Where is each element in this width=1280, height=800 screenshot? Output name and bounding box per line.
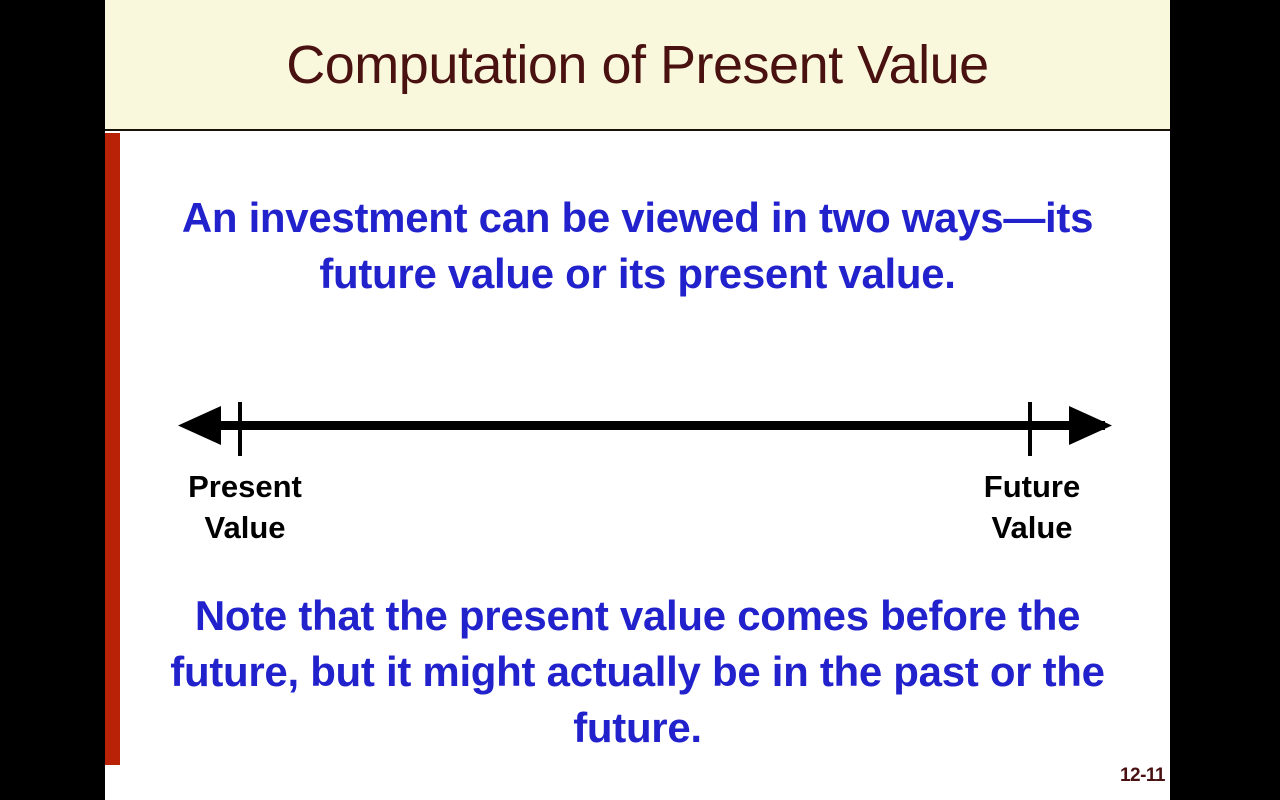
timeline-label-future-value: Future Value (932, 466, 1132, 548)
timeline-diagram: Present Value Future Value (105, 390, 1170, 550)
intro-paragraph: An investment can be viewed in two ways—… (165, 190, 1110, 302)
timeline-label-present-value: Present Value (145, 466, 345, 548)
page-title: Computation of Present Value (105, 0, 1170, 129)
slide-number: 12-11 (1120, 765, 1165, 787)
slide-canvas: Computation of Present Value An investme… (105, 0, 1170, 800)
slide-stage: Computation of Present Value An investme… (0, 0, 1280, 800)
note-paragraph: Note that the present value comes before… (165, 588, 1110, 756)
title-band: Computation of Present Value (105, 0, 1170, 131)
